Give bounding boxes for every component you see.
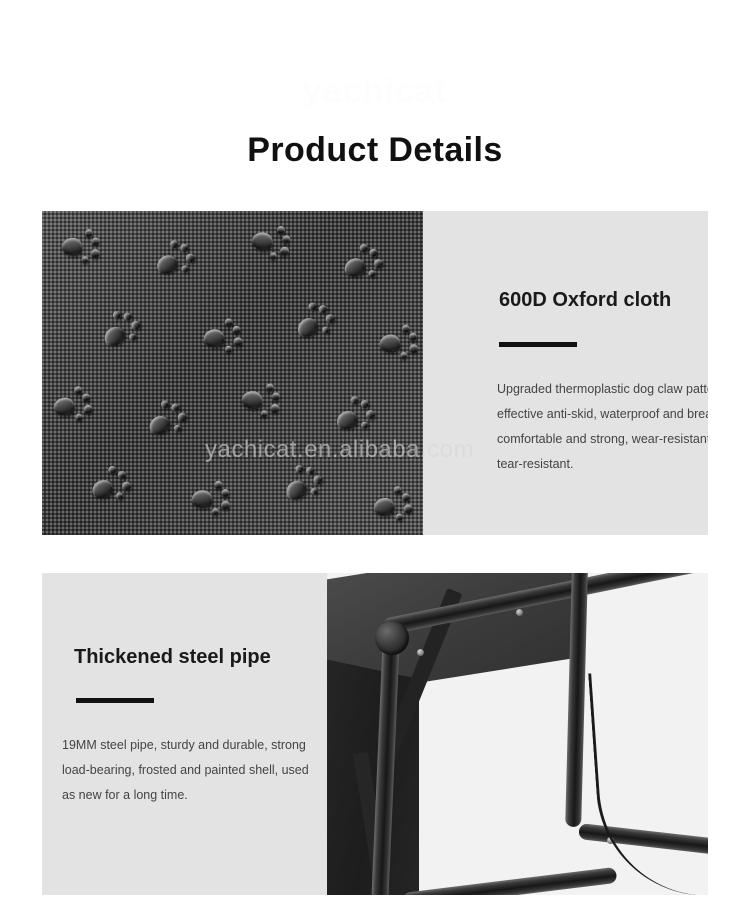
feature-heading: Thickened steel pipe (74, 646, 271, 669)
header-ghost-watermark: yachicat (0, 72, 750, 111)
feature-description: 19MM steel pipe, sturdy and durable, str… (62, 733, 322, 808)
feature-block-steel-pipe: Thickened steel pipe 19MM steel pipe, st… (42, 573, 708, 895)
rivet-icon (516, 609, 523, 616)
steel-pipe-bottom-rail (402, 867, 617, 895)
page-title: Product Details (0, 131, 750, 170)
steel-pipe-photo (327, 573, 708, 895)
elastic-cord (588, 665, 708, 895)
oxford-cloth-photo (42, 211, 423, 535)
pipe-joint-connector (375, 621, 409, 655)
rivet-icon (417, 649, 424, 656)
oxford-cloth-text-panel: 600D Oxford cloth Upgraded thermoplastic… (423, 211, 708, 535)
steel-frame-illustration (327, 573, 708, 895)
page-header: yachicat Product Details (0, 0, 750, 200)
heading-underline-rule (499, 342, 577, 347)
feature-description: Upgraded thermoplastic dog claw pattern,… (497, 377, 708, 477)
feature-heading: 600D Oxford cloth (499, 289, 671, 312)
heading-underline-rule (76, 698, 154, 703)
fabric-texture (42, 211, 423, 535)
product-details-page: yachicat Product Details (0, 0, 750, 910)
feature-block-oxford-cloth: 600D Oxford cloth Upgraded thermoplastic… (42, 211, 708, 535)
steel-pipe-text-panel: Thickened steel pipe 19MM steel pipe, st… (42, 573, 327, 895)
